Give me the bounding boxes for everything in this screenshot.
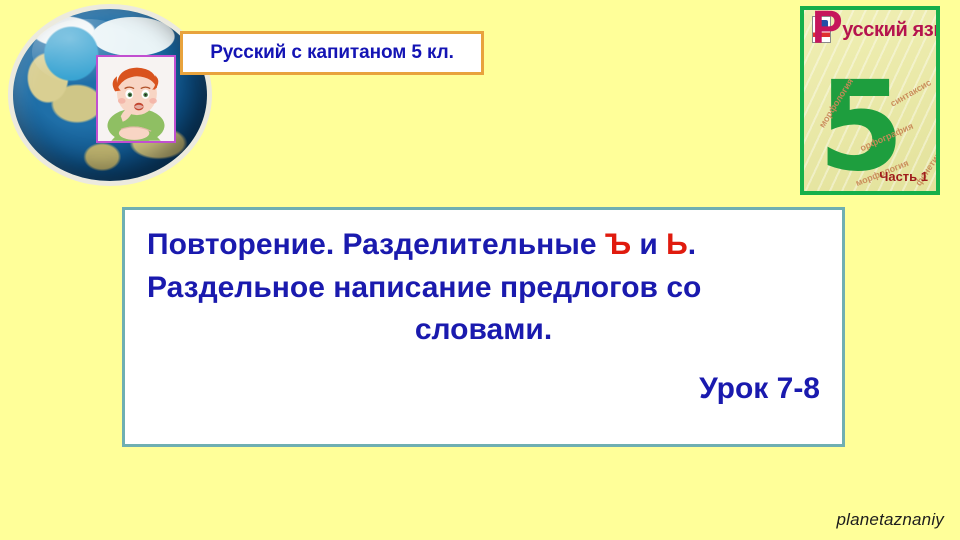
lesson-title-box: Повторение. Разделительные Ъ и Ь. Раздел… <box>122 207 845 447</box>
course-banner-label: Русский с капитаном 5 кл. <box>210 42 454 64</box>
lesson-title-conjunction: и <box>631 228 666 261</box>
course-banner: Русский с капитаном 5 кл. <box>180 31 484 75</box>
lesson-title-line-1: Повторение. Разделительные Ъ и Ь. <box>147 224 820 267</box>
watermark-label: planetaznaniy <box>836 510 944 530</box>
textbook-title-initial: Р <box>812 6 842 53</box>
textbook-title-rest: усский язык <box>842 19 940 41</box>
textbook-title: Русский язык <box>812 20 940 40</box>
slide-canvas: Русский с капитаном 5 кл. Русский язык 5… <box>0 0 960 540</box>
cartoon-boy-icon <box>96 55 176 143</box>
hard-sign-glyph: Ъ <box>605 228 631 261</box>
lesson-title-line-1-text: Повторение. Разделительные <box>147 228 605 261</box>
soft-sign-glyph: Ь <box>666 228 688 261</box>
lesson-title-line-2: Раздельное написание предлогов со <box>147 267 820 310</box>
textbook-part-label: Часть 1 <box>879 169 928 184</box>
lesson-number: Урок 7-8 <box>147 368 820 411</box>
lesson-title-line-3: словами. <box>147 309 820 352</box>
textbook-cover: Русский язык 5 морфология синтаксис орфо… <box>800 6 940 195</box>
lesson-title-line-1-period: . <box>688 228 696 261</box>
